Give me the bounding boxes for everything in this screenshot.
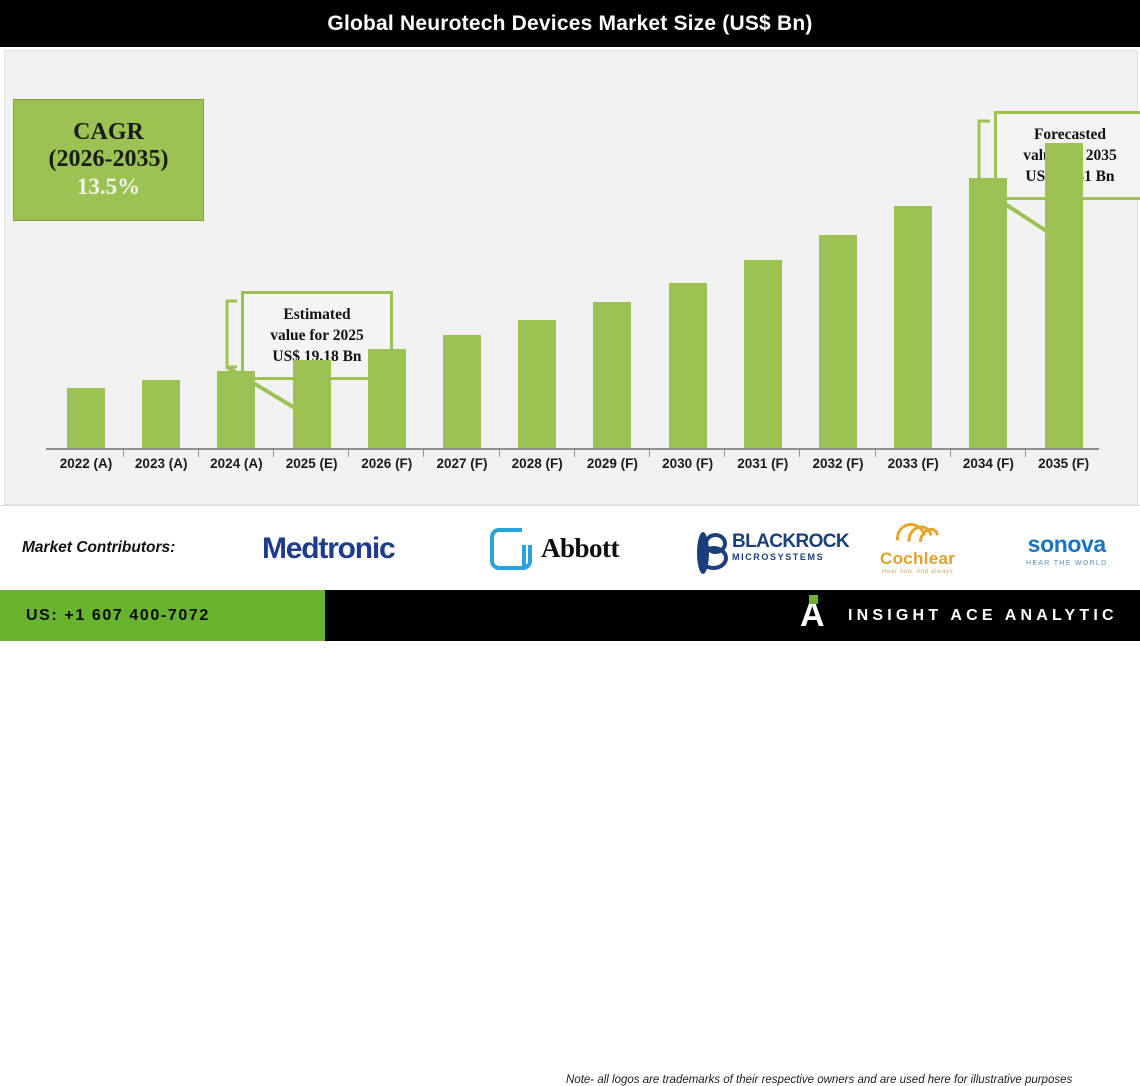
x-label-2022A: 2022 (A) [48,456,124,471]
x-label-2033F: 2033 (F) [875,456,951,471]
logo-cochlear: Cochlear Hear now. And always [880,506,955,591]
bar-2035F [1045,143,1083,448]
medtronic-wordmark: Medtronic [262,532,395,566]
x-label-2030F: 2030 (F) [650,456,726,471]
x-label-2028F: 2028 (F) [499,456,575,471]
market-contributors-strip: Market Contributors: Medtronic Abbott BL… [0,505,1140,591]
logo-abbott: Abbott [490,506,619,591]
bar-2027F [443,335,481,448]
insightace-logo-icon: A [800,599,828,633]
footer-phone-text[interactable]: US: +1 607 400-7072 [26,607,210,625]
bar-2029F [593,302,631,448]
bar-2028F [518,320,556,448]
bar-2025E [293,360,331,448]
blackrock-subtext: MICROSYSTEMS [732,551,849,565]
bar-2024A [217,371,255,448]
blackrock-b-icon [697,532,727,566]
x-label-2027F: 2027 (F) [424,456,500,471]
bar-2030F [669,283,707,448]
x-label-2023A: 2023 (A) [123,456,199,471]
cochlear-swoosh-icon [896,522,940,549]
footer-brand: A INSIGHT ACE ANALYTIC [800,590,1118,641]
bar-2022A [67,388,105,448]
bar-2033F [894,206,932,448]
chart-panel: CAGR (2026-2035) 13.5% Estimated value f… [4,50,1138,505]
bar-2023A [142,380,180,448]
logo-medtronic: Medtronic [262,506,395,591]
bar-2031F [744,260,782,448]
bar-2026F [368,349,406,448]
footer-bar: US: +1 607 400-7072 A INSIGHT ACE ANALYT… [0,590,1140,641]
x-label-2035F: 2035 (F) [1026,456,1102,471]
cochlear-wordmark: Cochlear [880,549,955,569]
contributors-label: Market Contributors: [22,539,175,557]
x-label-2025E: 2025 (E) [274,456,350,471]
bar-2032F [819,235,857,448]
title-bar: Global Neurotech Devices Market Size (US… [0,0,1140,47]
sonova-subtext: HEAR THE WORLD [1026,560,1107,567]
footer-phone-banner: US: +1 607 400-7072 [0,590,325,641]
abbott-a-icon [490,528,532,570]
x-label-2031F: 2031 (F) [725,456,801,471]
brand-name: INSIGHT ACE ANALYTIC [848,607,1118,625]
x-axis-line [46,448,1099,450]
logo-blackrock: BLACKROCK MICROSYSTEMS [697,506,849,591]
cochlear-subtext: Hear now. And always [882,569,953,575]
sonova-wordmark: sonova [1028,531,1106,558]
page-title: Global Neurotech Devices Market Size (US… [327,12,812,36]
logo-sonova: sonova HEAR THE WORLD [1026,506,1107,591]
x-label-2034F: 2034 (F) [950,456,1026,471]
blackrock-wordmark: BLACKROCK [732,532,849,551]
abbott-wordmark: Abbott [541,533,619,564]
trademark-note: Note- all logos are trademarks of their … [566,1074,1140,1086]
x-label-2026F: 2026 (F) [349,456,425,471]
plot-area: 2022 (A)2023 (A)2024 (A)2025 (E)2026 (F)… [5,51,1137,504]
infographic-page: Global Neurotech Devices Market Size (US… [0,0,1140,641]
x-label-2024A: 2024 (A) [198,456,274,471]
bar-2034F [969,178,1007,448]
x-label-2032F: 2032 (F) [800,456,876,471]
x-label-2029F: 2029 (F) [574,456,650,471]
